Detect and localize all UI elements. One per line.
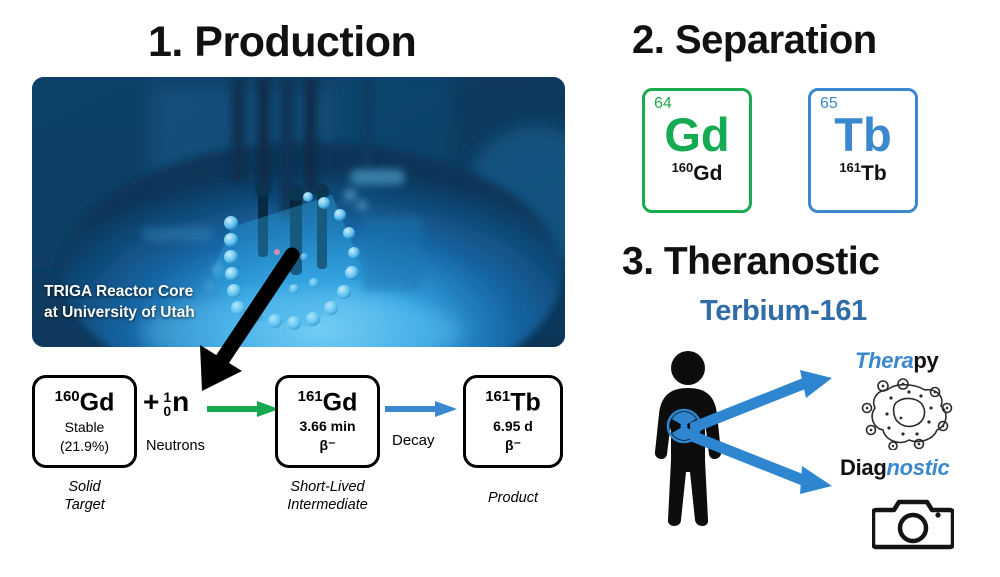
- section-title-separation: 2. Separation: [632, 18, 877, 63]
- section-title-production: 1. Production: [148, 18, 416, 67]
- nuclide-halflife: 6.95 d: [493, 418, 533, 434]
- tumor-cell-icon: [857, 378, 967, 450]
- caption-line1: Product: [463, 489, 563, 507]
- mass-number: 161: [485, 388, 510, 405]
- element-symbol: Gd: [80, 389, 115, 417]
- element-symbol: Gd: [323, 388, 358, 416]
- section-title-theranostic: 3. Theranostic: [622, 240, 879, 284]
- nuclide-symbol: 160Gd: [55, 389, 115, 416]
- element-card-gadolinium: 64 Gd 160Gd: [642, 88, 752, 213]
- nuclide-symbol: 161Tb: [485, 389, 541, 416]
- isotope-label: 161Tb: [839, 160, 886, 186]
- isotope-mass: 161: [839, 160, 861, 175]
- diagnostic-label-black: Diag: [840, 455, 886, 480]
- arrow-decay-icon: [385, 398, 457, 420]
- nuclide-caption-intermediate: Short-Lived Intermediate: [245, 478, 410, 514]
- neutron-numbers: 10: [163, 390, 171, 418]
- nuclide-halflife: 3.66 min: [299, 418, 355, 434]
- caption-line1: Solid: [32, 478, 137, 496]
- nuclide-detail-2: (21.9%): [60, 438, 109, 454]
- element-symbol: Tb: [510, 388, 541, 416]
- nuclide-box-tb161: 161Tb 6.95 d β⁻: [463, 375, 563, 468]
- photo-caption: TRIGA Reactor Core at University of Utah: [44, 282, 195, 324]
- nuclide-caption-target: Solid Target: [32, 478, 137, 514]
- neutron-symbol: n: [172, 386, 189, 417]
- nuclide-caption-product: Product: [463, 489, 563, 507]
- mass-number: 161: [298, 388, 323, 405]
- therapy-label-black: py: [913, 348, 938, 373]
- theranostic-subtitle: Terbium-161: [700, 295, 867, 328]
- neutron-term: +10n: [143, 388, 189, 418]
- nuclide-decay-mode: β⁻: [505, 437, 521, 454]
- nuclide-detail-1: Stable: [65, 419, 105, 435]
- caption-line2: Intermediate: [245, 496, 410, 514]
- neutron-mass: 1: [163, 390, 171, 404]
- neutron-charge: 0: [163, 404, 171, 418]
- isotope-symbol: Tb: [861, 162, 887, 185]
- arrow-neutron-capture-icon: [207, 398, 279, 420]
- arrow-to-therapy-icon: [692, 370, 832, 428]
- arrow-to-diagnostic-icon: [692, 436, 832, 494]
- therapy-label-blue: Thera: [855, 348, 913, 373]
- isotope-label: 160Gd: [672, 160, 723, 186]
- diagnostic-label: Diagnostic: [840, 455, 949, 481]
- element-symbol: Gd: [664, 113, 729, 158]
- therapy-label: Therapy: [855, 348, 939, 374]
- nuclide-symbol: 161Gd: [298, 389, 358, 416]
- plus-sign: +: [143, 386, 159, 417]
- camera-icon: [872, 498, 954, 550]
- pointer-arrow-icon: [180, 245, 310, 395]
- theranostic-arrows: [690, 370, 840, 500]
- isotope-symbol: Gd: [693, 162, 722, 185]
- element-symbol: Tb: [834, 113, 891, 158]
- nuclide-box-gd160: 160Gd Stable (21.9%): [32, 375, 137, 468]
- nuclide-box-gd161: 161Gd 3.66 min β⁻: [275, 375, 380, 468]
- diagnostic-label-blue: nostic: [886, 455, 949, 480]
- mass-number: 160: [55, 388, 80, 405]
- neutron-label: Neutrons: [146, 438, 205, 454]
- caption-line2: Target: [32, 496, 137, 514]
- isotope-mass: 160: [672, 160, 694, 175]
- infographic-root: 1. Production: [0, 0, 1000, 577]
- photo-caption-line1: TRIGA Reactor Core: [44, 282, 195, 303]
- decay-label: Decay: [392, 432, 435, 449]
- nuclide-decay-mode: β⁻: [320, 437, 336, 454]
- element-card-terbium: 65 Tb 161Tb: [808, 88, 918, 213]
- photo-caption-line2: at University of Utah: [44, 303, 195, 324]
- caption-line1: Short-Lived: [245, 478, 410, 496]
